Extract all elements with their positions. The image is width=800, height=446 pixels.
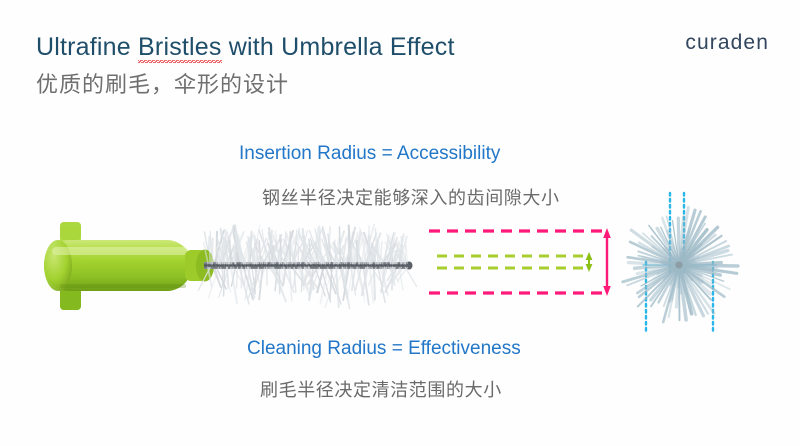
insertion-radius-marker (437, 252, 592, 272)
illustration-layer (0, 0, 800, 446)
slide-canvas: Ultrafine Bristles with Umbrella Effect … (0, 0, 800, 446)
cleaning-radius-marker (429, 228, 611, 296)
brush-end-view-core (675, 261, 682, 268)
cleaning-radius-arrow-head-bottom (603, 286, 611, 296)
cleaning-radius-arrow-head-top (603, 228, 611, 238)
brush-handle (44, 222, 214, 310)
insertion-radius-arrow-head-bottom (586, 264, 593, 272)
insertion-radius-arrow-head-top (586, 252, 593, 260)
